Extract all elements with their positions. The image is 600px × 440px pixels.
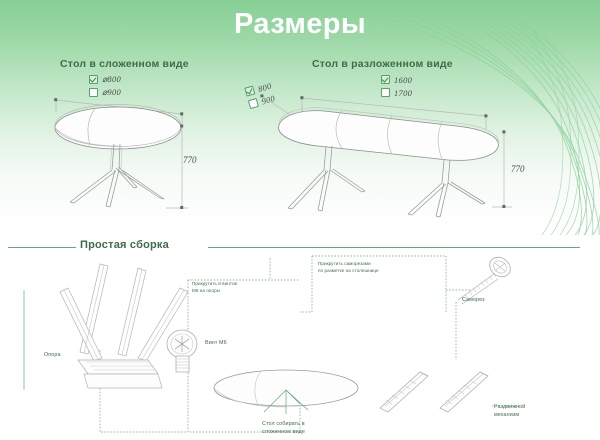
slide-mechanism-drawing: [376, 356, 506, 423]
divider-right: [208, 247, 580, 248]
section-heading-folded: Стол в сложенном виде: [60, 58, 189, 70]
page-title: Размеры: [0, 8, 600, 41]
divider-left: [8, 247, 76, 248]
note-screws: Прикрутить 8 винтов М6 на опоры: [192, 281, 237, 294]
bolt-m6-drawing: [162, 328, 212, 381]
note-selftapping: Прикрутить саморезами по разметке на сто…: [318, 261, 379, 274]
option-label: 1600: [394, 75, 412, 85]
part-label-mechanism: Раздвижной механизм: [494, 404, 525, 419]
note-assemble-folded: Стол собирать в сложенном виде: [262, 421, 305, 436]
part-label-samorez: Саморез: [462, 297, 485, 305]
section-heading-unfolded: Стол в разложенном виде: [312, 58, 453, 70]
part-label-opora: Опора: [44, 352, 61, 360]
infographic-page: Размеры Стол в сложенном виде ⌀800 ⌀900: [0, 0, 600, 440]
part-label-vint-m6: Винт М6: [205, 340, 227, 348]
checkbox-checked-icon[interactable]: [381, 75, 390, 84]
unfolded-table-drawing: [258, 84, 523, 224]
folded-height-dimension: 770: [183, 155, 197, 165]
selftapping-screw-drawing: [450, 256, 520, 309]
unfolded-height-dimension: 770: [511, 164, 525, 174]
checkbox-checked-icon[interactable]: [244, 85, 255, 96]
checkbox-checked-icon[interactable]: [89, 75, 98, 84]
folded-table-drawing: [48, 84, 213, 219]
